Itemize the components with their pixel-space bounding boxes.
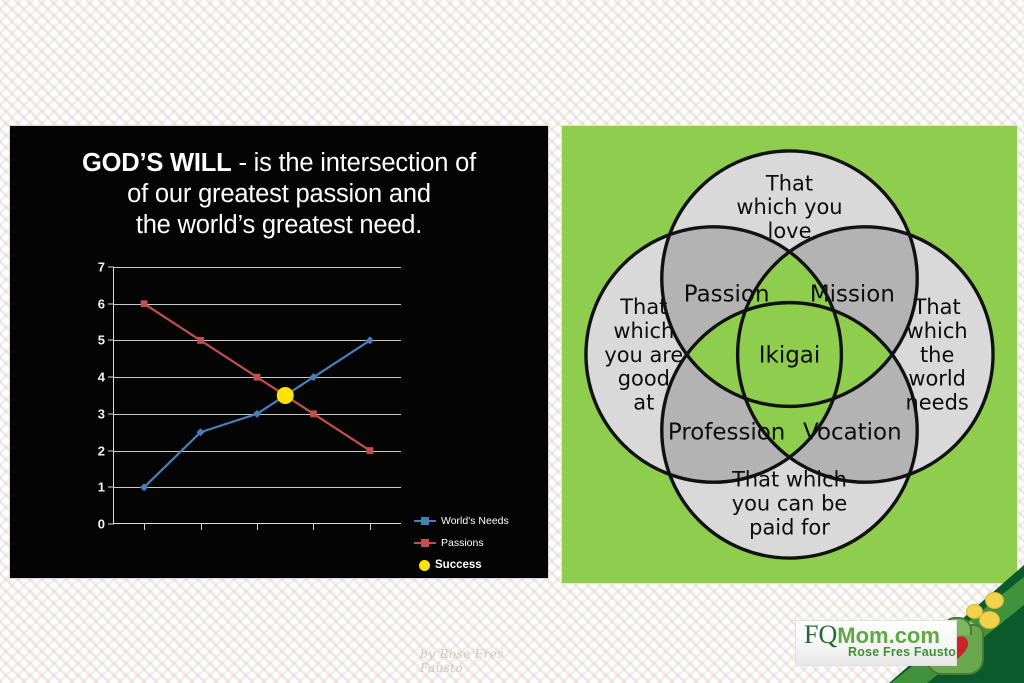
legend-line-marker (414, 542, 436, 544)
slide-title-strong: GOD’S WILL (82, 149, 232, 177)
ikigai-label-center: Ikigai (759, 343, 820, 369)
y-tick-label: 5 (98, 333, 105, 348)
chart-plot-area: 01234567 (113, 267, 401, 524)
coin-icon-1 (985, 592, 1004, 609)
x-tick-mark (313, 523, 314, 530)
x-tick-mark (370, 523, 371, 530)
ikigai-label-world-needs: world (908, 367, 966, 391)
ikigai-diagram-panel: Thatwhich youloveThatwhichyou aregoodatT… (562, 126, 1017, 583)
ikigai-label-good-at: at (633, 391, 654, 415)
x-tick-mark (257, 523, 258, 530)
ikigai-label-paid-for: you can be (732, 491, 848, 515)
x-tick-mark (201, 523, 202, 530)
ikigai-label-paid-for: paid for (749, 515, 830, 539)
y-tick-label: 0 (98, 517, 105, 532)
legend-dot-marker (419, 560, 430, 571)
data-point-passions (141, 300, 148, 307)
gods-will-slide: GOD’S WILL - is the intersection of of o… (10, 126, 548, 578)
ikigai-label-mission: Mission (810, 282, 895, 308)
y-tick-label: 3 (98, 406, 105, 421)
logo-fq-text: FQ (804, 620, 837, 649)
logo-byline: Rose Fres Fausto (848, 645, 956, 659)
fqmom-logo[interactable]: FQMom.com Rose Fres Fausto (795, 620, 957, 666)
y-tick-label: 4 (98, 370, 105, 385)
slide-title-line3: the world’s greatest need. (136, 211, 422, 239)
y-tick-label: 7 (98, 260, 105, 275)
ikigai-label-good-at: good (618, 367, 670, 391)
coin-icon-3 (979, 611, 1000, 629)
legend-label: World's Needs (441, 515, 509, 527)
legend-item: World's Needs (414, 512, 509, 530)
slide-title: GOD’S WILL - is the intersection of of o… (10, 148, 548, 241)
ikigai-label-good-at: which (613, 319, 674, 343)
x-tick-mark (144, 523, 145, 530)
ikigai-label-love: That (765, 171, 813, 195)
legend-item: Passions (414, 534, 509, 552)
legend-label: Passions (441, 537, 484, 549)
data-point-passions (197, 337, 204, 344)
chart-series-group (113, 267, 401, 524)
ikigai-label-world-needs: needs (906, 391, 969, 415)
ikigai-label-profession: Profession (668, 419, 785, 445)
ikigai-label-vocation: Vocation (803, 419, 902, 445)
data-point-passions (310, 410, 317, 417)
ikigai-label-world-needs: That (913, 295, 961, 319)
ikigai-label-world-needs: the (920, 343, 954, 367)
ikigai-venn-diagram: Thatwhich youloveThatwhichyou aregoodatT… (570, 134, 1009, 575)
ikigai-label-passion: Passion (684, 282, 770, 308)
ikigai-label-world-needs: which (907, 319, 968, 343)
y-tick-label: 1 (98, 480, 105, 495)
slide-title-rest: - is the intersection of (232, 149, 476, 177)
y-tick-label: 2 (98, 443, 105, 458)
data-point-passions (254, 374, 261, 381)
ikigai-label-love: which you (736, 195, 842, 219)
y-tick-label: 6 (98, 296, 105, 311)
ikigai-label-good-at: you are (604, 343, 683, 367)
data-point-passions (367, 447, 374, 454)
data-point-success (277, 387, 294, 404)
slide-title-line2: of our greatest passion and (127, 180, 431, 208)
legend-line-marker (414, 520, 436, 522)
legend-item: Success (414, 556, 509, 574)
chart-legend: World's NeedsPassionsSuccess (414, 512, 509, 578)
ikigai-label-good-at: That (619, 295, 667, 319)
ikigai-label-paid-for: That which (731, 468, 847, 492)
ikigai-label-love: love (768, 219, 812, 243)
chart-credit: by Rose Fres Fausto (420, 647, 548, 675)
logo-wordmark: FQMom.com (804, 624, 940, 647)
legend-label: Success (435, 559, 482, 571)
